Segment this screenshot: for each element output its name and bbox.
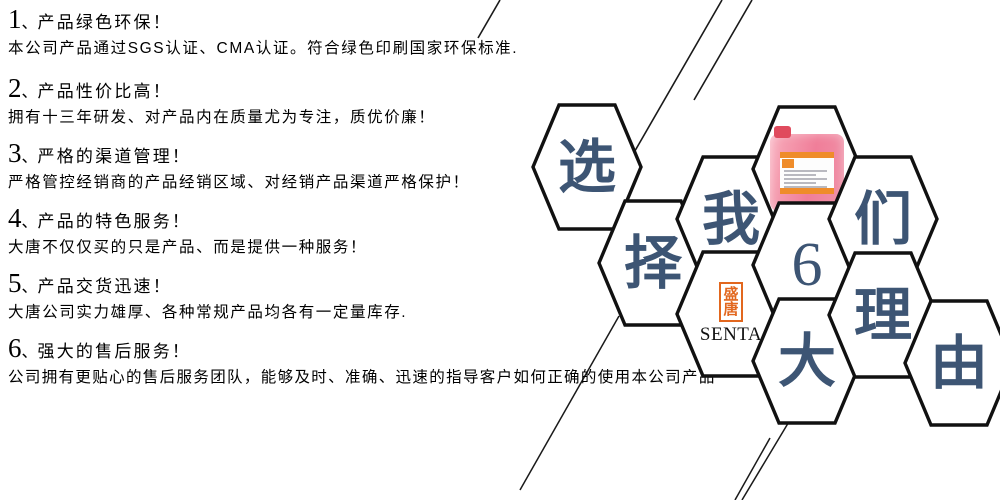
jerrycan-label-line bbox=[784, 182, 816, 184]
jerrycan-label-tag bbox=[782, 159, 794, 168]
jerrycan-label-line bbox=[784, 174, 816, 176]
hex-cell-you: 由 bbox=[903, 299, 1000, 427]
jerrycan-label-line bbox=[784, 178, 827, 180]
jerrycan-label-line bbox=[784, 170, 827, 172]
hex-label-you: 由 bbox=[903, 299, 1000, 427]
jerrycan-cap bbox=[774, 126, 791, 138]
logo-char-bottom: 唐 bbox=[723, 302, 738, 317]
logo-seal-icon: 盛 唐 bbox=[719, 282, 743, 322]
honeycomb-cluster: 选 择 我 盛 唐 SENTA bbox=[0, 0, 1000, 500]
promo-banner: 1、产品绿色环保！ 本公司产品通过SGS认证、CMA认证。符合绿色印刷国家环保标… bbox=[0, 0, 1000, 500]
jerrycan-label-line bbox=[784, 186, 827, 188]
jerrycan-label bbox=[780, 152, 834, 194]
